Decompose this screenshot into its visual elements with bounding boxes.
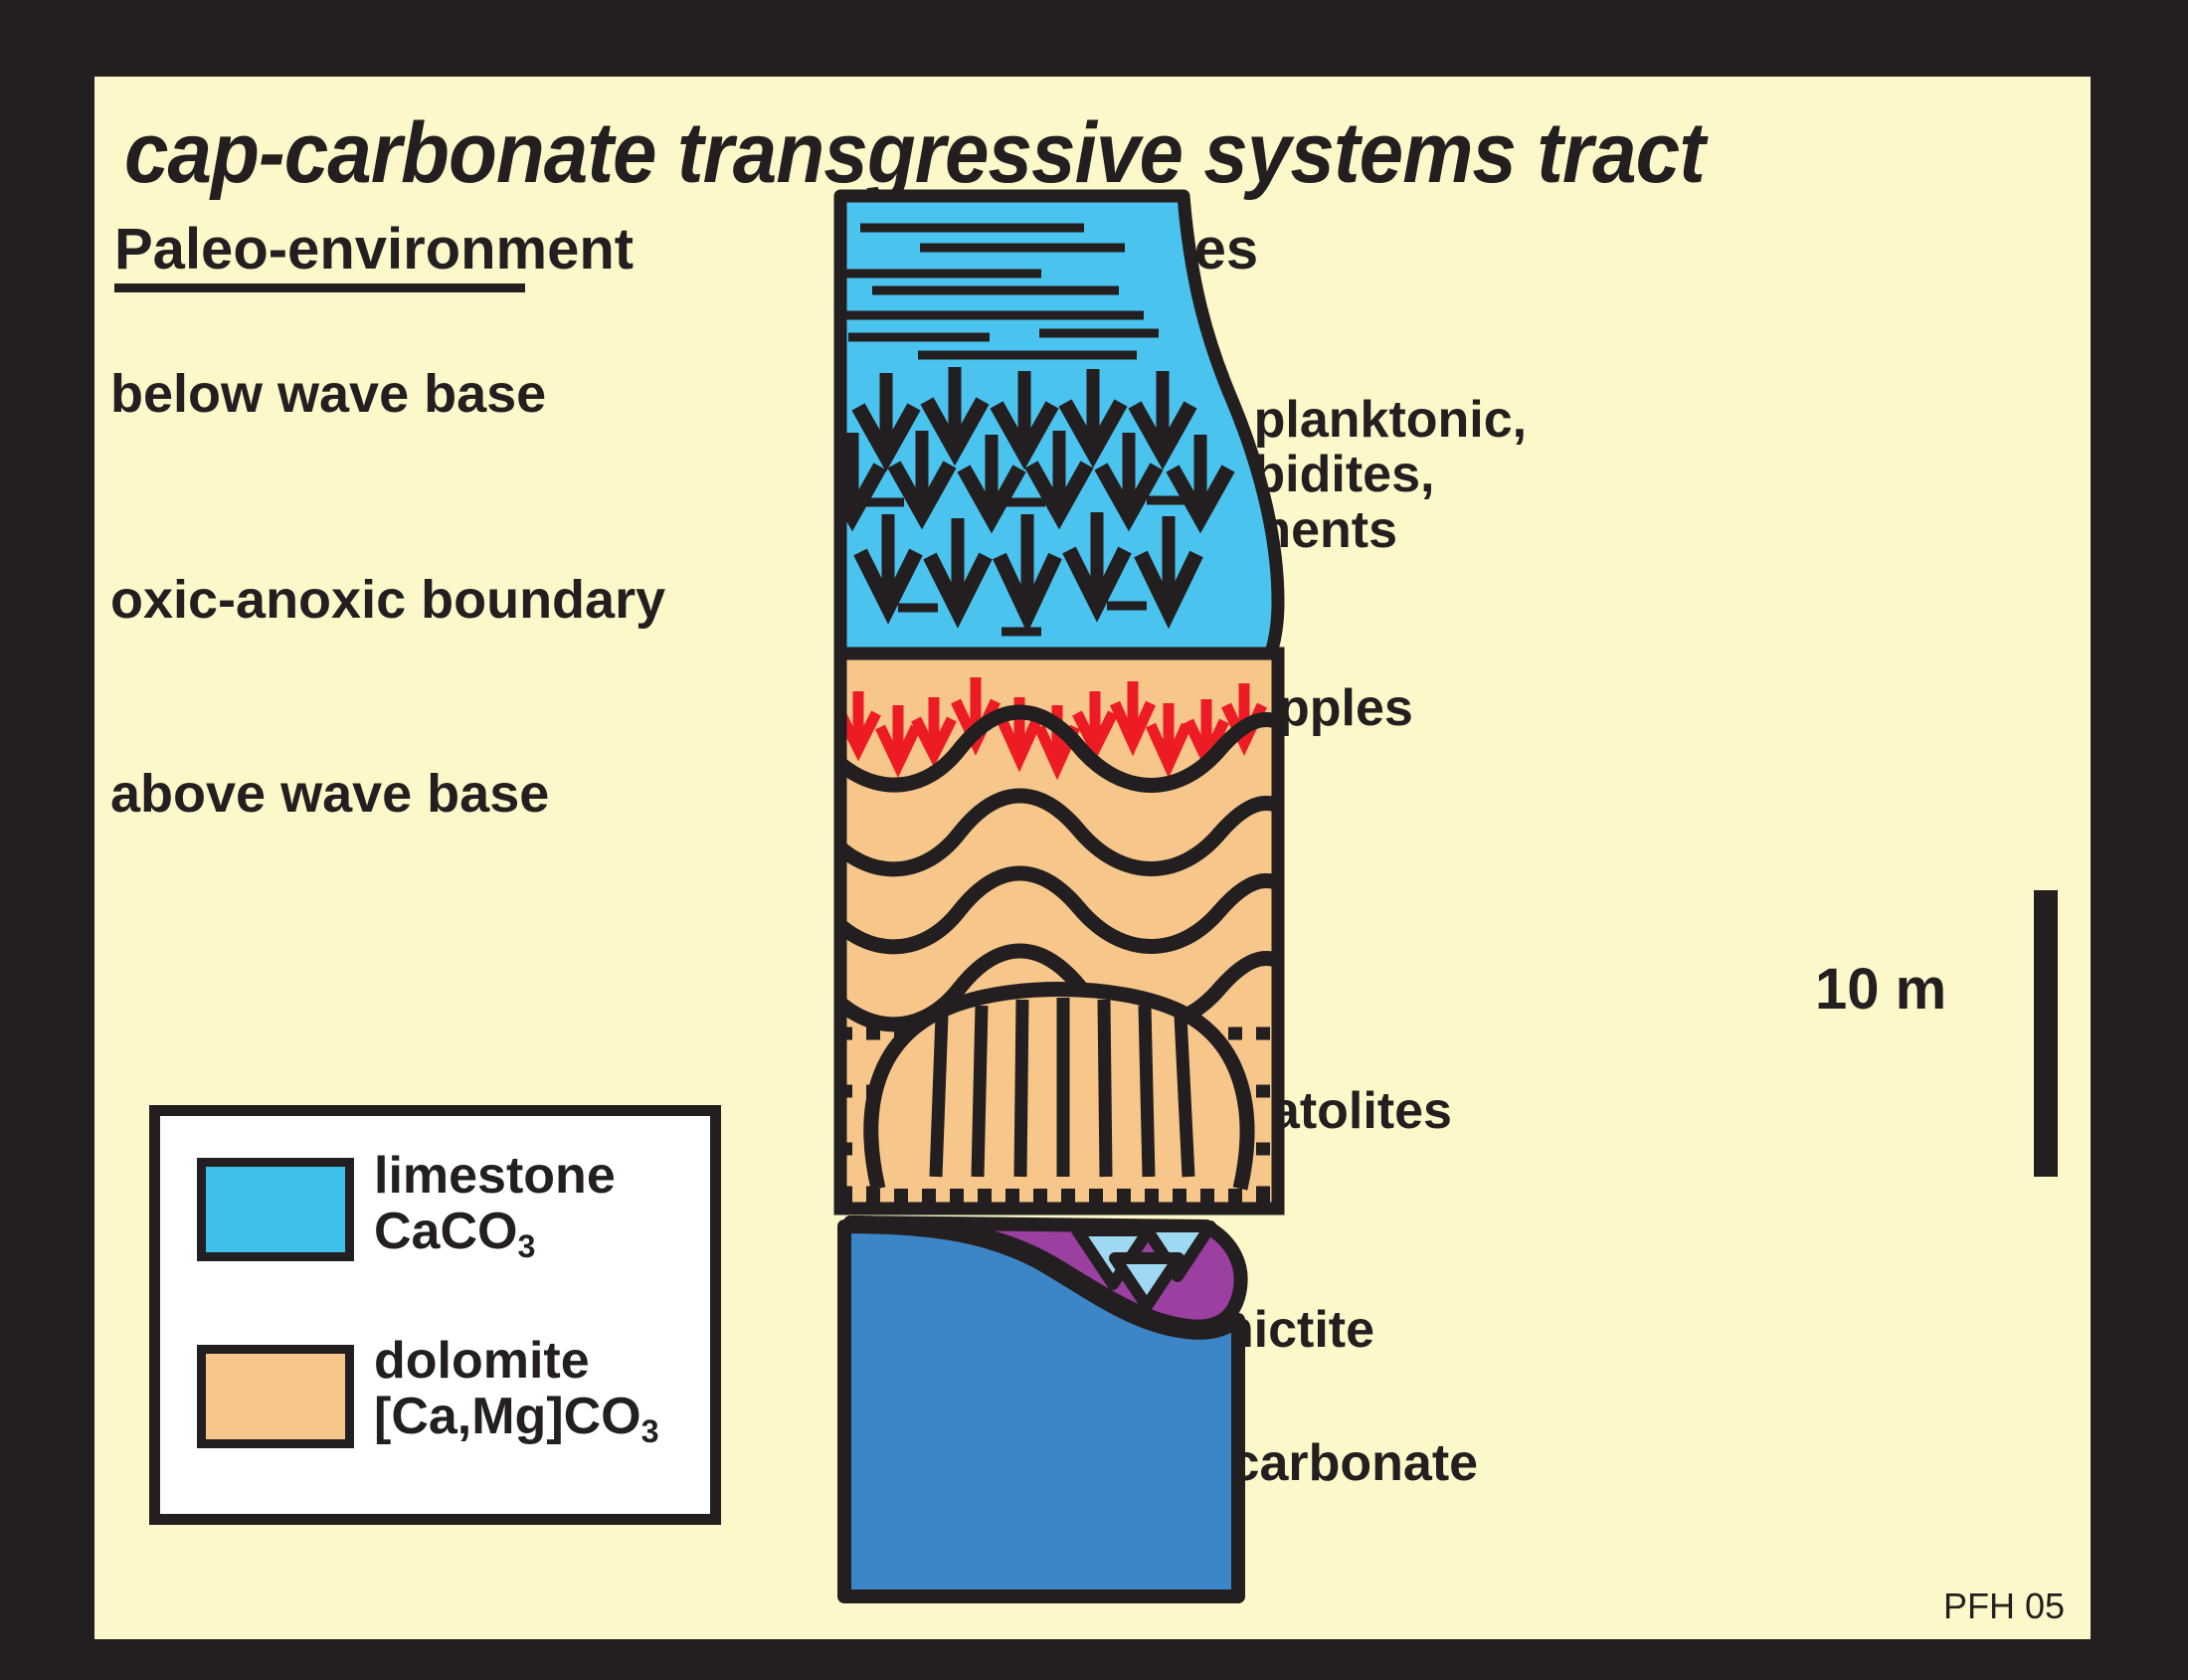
paleo-environment-header: Paleo-environment xyxy=(114,216,634,282)
credit-label: PFH 05 xyxy=(1943,1586,2065,1627)
legend-label-limestone: limestone CaCO3 xyxy=(374,1148,616,1264)
sea-floor-cement-arrows xyxy=(830,367,1228,632)
scale-bar xyxy=(2034,890,2058,1177)
paleo-environment-rule xyxy=(114,283,525,292)
env-below-wave-base: below wave base xyxy=(110,363,546,425)
unit-dolomite xyxy=(830,602,1293,1209)
unit-limestone xyxy=(830,196,1278,718)
legend-dolomite-name: dolomite xyxy=(374,1333,659,1389)
env-oxic-anoxic-boundary: oxic-anoxic boundary xyxy=(110,569,665,631)
diagram-panel: cap-carbonate transgressive systems trac… xyxy=(94,77,2091,1639)
plumb-stromatolite-dome xyxy=(871,990,1247,1190)
legend-swatch-dolomite xyxy=(197,1345,354,1448)
scale-bar-label: 10 m xyxy=(1815,956,1946,1023)
legend-limestone-formula: CaCO3 xyxy=(374,1204,616,1264)
stratigraphic-column xyxy=(830,186,1447,1628)
env-above-wave-base: above wave base xyxy=(110,763,549,825)
legend-limestone-name: limestone xyxy=(374,1148,616,1204)
legend-dolomite-formula: [Ca,Mg]CO3 xyxy=(374,1389,659,1449)
legend-box: limestone CaCO3 dolomite [Ca,Mg]CO3 xyxy=(149,1105,721,1525)
legend-swatch-limestone xyxy=(197,1158,354,1261)
legend-label-dolomite: dolomite [Ca,Mg]CO3 xyxy=(374,1333,659,1449)
